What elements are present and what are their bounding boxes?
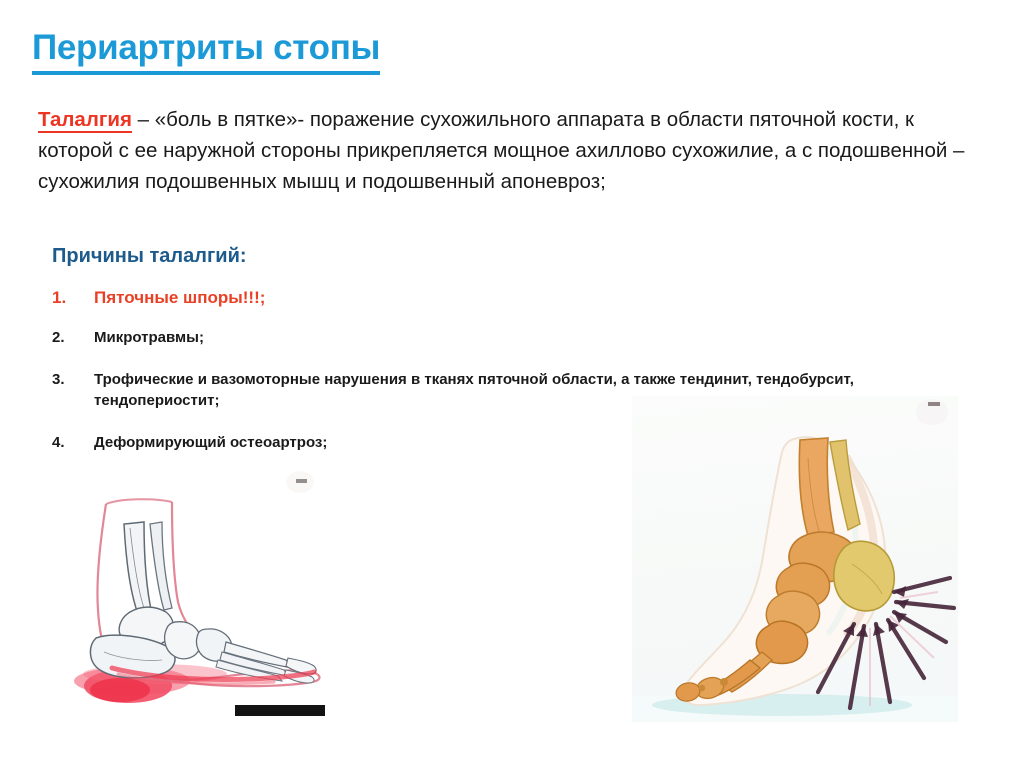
page-title: Периартриты стопы <box>32 28 380 75</box>
causes-heading: Причины талалгий: <box>52 245 247 268</box>
definition-paragraph: Талалгия – «боль в пятке»- поражение сух… <box>38 104 968 197</box>
foot-anatomy-illustration <box>632 396 958 722</box>
list-item-number: 1. <box>52 286 94 309</box>
list-item-number: 3. <box>52 369 94 390</box>
page-title-text: Периартриты стопы <box>32 28 380 75</box>
list-item-label: Микротравмы; <box>94 327 892 348</box>
foot-xray-illustration <box>60 462 360 740</box>
list-item-number: 2. <box>52 327 94 348</box>
list-item: 2. Микротравмы; <box>52 327 892 348</box>
definition-term: Талалгия <box>38 108 132 133</box>
list-item-number: 4. <box>52 432 94 453</box>
definition-body: – «боль в пятке»- поражение сухожильного… <box>38 108 964 193</box>
list-item: 1. Пяточные шпоры!!!; <box>52 286 892 309</box>
list-item-label: Пяточные шпоры!!!; <box>94 286 892 309</box>
scale-bar <box>235 705 325 716</box>
slide: Периартриты стопы Талалгия – «боль в пят… <box>0 0 1024 767</box>
foot-anatomy-figure <box>632 396 958 722</box>
foot-xray-figure <box>60 462 360 740</box>
